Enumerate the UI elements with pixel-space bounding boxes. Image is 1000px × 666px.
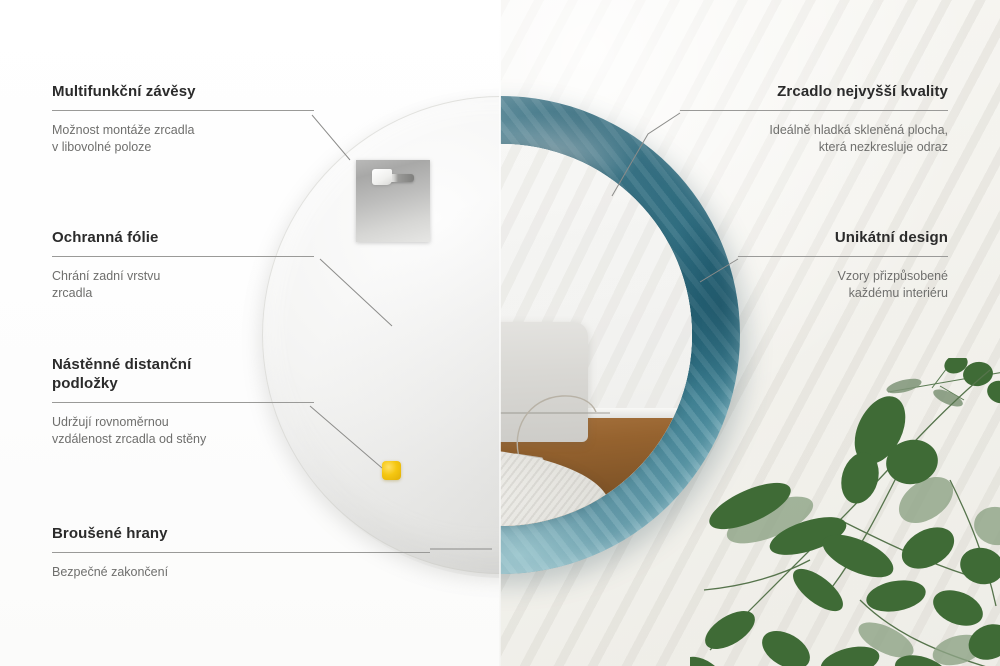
hanger-plate — [356, 160, 430, 242]
callout-title: Broušené hrany — [52, 524, 430, 543]
callout-title-line2: podložky — [52, 374, 314, 393]
callout-desc-line2: která nezkresluje odraz — [680, 139, 948, 156]
yellow-spacer-pad — [382, 461, 401, 480]
callout-ochranna-folie: Ochranná fólie Chrání zadní vrstvu zrcad… — [52, 228, 314, 302]
callout-desc-line2: v libovolné poloze — [52, 139, 314, 156]
infographic-canvas: Multifunkční závěsy Možnost montáže zrca… — [0, 0, 1000, 666]
callout-multifunkcni-zavesy: Multifunkční závěsy Možnost montáže zrca… — [52, 82, 314, 156]
callout-rule — [680, 110, 948, 111]
callout-title: Zrcadlo nejvyšší kvality — [680, 82, 948, 101]
callout-desc-line1: Ideálně hladká skleněná plocha, — [680, 122, 948, 139]
callout-rule — [52, 256, 314, 257]
callout-zrcadlo-nejvyssi-kvality: Zrcadlo nejvyšší kvality Ideálně hladká … — [680, 82, 948, 156]
callout-desc-line2: každému interiéru — [738, 285, 948, 302]
callout-rule — [52, 402, 314, 403]
mirror-glass — [500, 144, 692, 526]
callout-title: Ochranná fólie — [52, 228, 314, 247]
callout-nastenne-distancni-podlozky: Nástěnné distanční podložky Udržují rovn… — [52, 355, 314, 448]
callout-rule — [738, 256, 948, 257]
hanger-slot-icon — [374, 174, 414, 182]
callout-brousene-hrany: Broušené hrany Bezpečné zakončení — [52, 524, 430, 581]
callout-desc-line2: zrcadla — [52, 285, 314, 302]
callout-title: Unikátní design — [738, 228, 948, 247]
callout-title: Multifunkční závěsy — [52, 82, 314, 101]
callout-desc-line1: Udržují rovnoměrnou — [52, 414, 314, 431]
foliage-leaves-dark — [690, 388, 1000, 666]
callout-desc-line1: Bezpečné zakončení — [52, 564, 430, 581]
callout-desc-line1: Možnost montáže zrcadla — [52, 122, 314, 139]
callout-title-line1: Nástěnné distanční — [52, 355, 314, 374]
callout-rule — [52, 110, 314, 111]
callout-desc-line1: Vzory přizpůsobené — [738, 268, 948, 285]
callout-desc-line1: Chrání zadní vrstvu — [52, 268, 314, 285]
reflected-floor-lamp — [506, 368, 602, 464]
foliage-branches — [690, 350, 1000, 666]
callout-rule — [52, 552, 430, 553]
callout-desc-line2: vzdálenost zrcadla od stěny — [52, 431, 314, 448]
panel-divider — [499, 0, 501, 666]
callout-unikatni-design: Unikátní design Vzory přizpůsobené každé… — [738, 228, 948, 302]
